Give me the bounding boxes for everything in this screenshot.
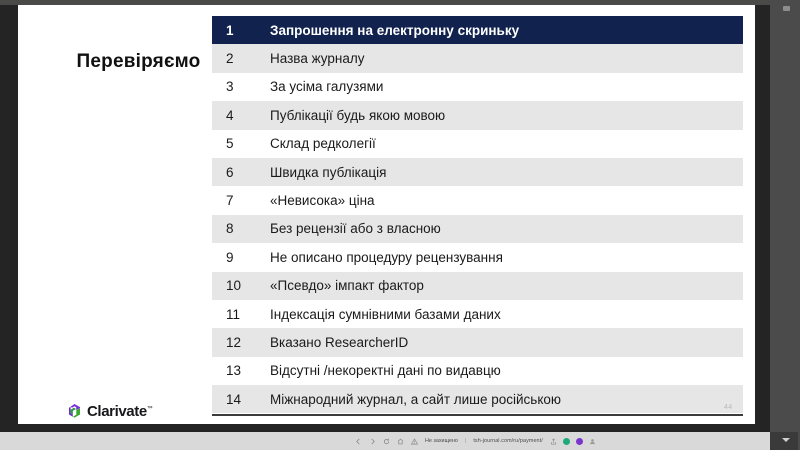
table-row[interactable]: 9Не описано процедуру рецензування xyxy=(212,243,743,271)
not-secure-warning-icon[interactable] xyxy=(411,438,418,445)
screen: Перевіряємо 1Запрошення на електронну ск… xyxy=(0,0,800,450)
checklist-table-body: 1Запрошення на електронну скриньку2Назва… xyxy=(212,16,743,413)
row-label: Міжнародний журнал, а сайт лише російськ… xyxy=(266,385,743,413)
table-row[interactable]: 5Склад редколегії xyxy=(212,130,743,158)
extension-green-icon[interactable] xyxy=(563,438,570,445)
table-row[interactable]: 11Індексація сумнівними базами даних xyxy=(212,300,743,328)
address-bar-url[interactable]: tsh-journal.com/ru/payment/ xyxy=(473,438,543,444)
table-row[interactable]: 4Публікації будь якою мовою xyxy=(212,101,743,129)
row-label: Склад редколегії xyxy=(266,130,743,158)
reload-icon[interactable] xyxy=(383,438,390,445)
row-number: 11 xyxy=(212,300,266,328)
row-number: 1 xyxy=(212,16,266,44)
row-label: «Псевдо» імпакт фактор xyxy=(266,272,743,300)
address-separator: | xyxy=(465,438,466,444)
browser-toolbar-inner: Не захищено | tsh-journal.com/ru/payment… xyxy=(355,438,606,445)
clarivate-wordmark: Clarivate™ xyxy=(87,403,152,420)
table-row[interactable]: 12Вказано ResearcherID xyxy=(212,328,743,356)
page-title: Перевіряємо xyxy=(51,51,226,74)
left-letterbox-band xyxy=(0,5,18,432)
row-label: Індексація сумнівними базами даних xyxy=(266,300,743,328)
profile-icon[interactable] xyxy=(589,438,596,445)
bottom-letterbox-band xyxy=(18,424,755,432)
clarivate-wordmark-text: Clarivate xyxy=(87,403,147,420)
trademark-symbol: ™ xyxy=(147,406,153,412)
row-label: Вказано ResearcherID xyxy=(266,328,743,356)
table-bottom-rule xyxy=(212,414,743,416)
window-control-icon[interactable] xyxy=(783,6,790,11)
row-label: «Невисока» ціна xyxy=(266,186,743,214)
row-number: 3 xyxy=(212,73,266,101)
table-row[interactable]: 2Назва журналу xyxy=(212,44,743,72)
clarivate-logo: Clarivate™ xyxy=(66,403,152,420)
forward-arrow-icon[interactable] xyxy=(369,438,376,445)
table-row[interactable]: 7«Невисока» ціна xyxy=(212,186,743,214)
row-number: 13 xyxy=(212,357,266,385)
back-arrow-icon[interactable] xyxy=(355,438,362,445)
share-icon[interactable] xyxy=(550,438,557,445)
checklist-table: 1Запрошення на електронну скриньку2Назва… xyxy=(212,16,743,413)
security-label: Не захищено xyxy=(425,438,458,444)
row-number: 6 xyxy=(212,158,266,186)
table-row[interactable]: 3За усіма галузями xyxy=(212,73,743,101)
table-row[interactable]: 10«Псевдо» імпакт фактор xyxy=(212,272,743,300)
row-number: 5 xyxy=(212,130,266,158)
slide-number: 44 xyxy=(724,404,732,411)
row-number: 9 xyxy=(212,243,266,271)
browser-toolbar: Не захищено | tsh-journal.com/ru/payment… xyxy=(0,432,770,450)
row-label: Відсутні /некоректні дані по видавцю xyxy=(266,357,743,385)
table-row[interactable]: 8Без рецензії або з власною xyxy=(212,215,743,243)
row-number: 8 xyxy=(212,215,266,243)
row-number: 2 xyxy=(212,44,266,72)
presentation-slide: Перевіряємо 1Запрошення на електронну ск… xyxy=(18,5,755,424)
row-label: Публікації будь якою мовою xyxy=(266,101,743,129)
table-row[interactable]: 13Відсутні /некоректні дані по видавцю xyxy=(212,357,743,385)
row-number: 10 xyxy=(212,272,266,300)
table-row[interactable]: 6Швидка публікація xyxy=(212,158,743,186)
far-right-panel xyxy=(770,0,800,450)
chevron-down-icon[interactable] xyxy=(782,438,790,442)
extension-purple-icon[interactable] xyxy=(576,438,583,445)
row-label: За усіма галузями xyxy=(266,73,743,101)
right-letterbox-band xyxy=(755,5,770,432)
table-row[interactable]: 14Міжнародний журнал, а сайт лише російс… xyxy=(212,385,743,413)
row-number: 14 xyxy=(212,385,266,413)
table-row[interactable]: 1Запрошення на електронну скриньку xyxy=(212,16,743,44)
clarivate-mark-icon xyxy=(66,403,83,420)
row-label: Швидка публікація xyxy=(266,158,743,186)
row-label: Не описано процедуру рецензування xyxy=(266,243,743,271)
row-label: Без рецензії або з власною xyxy=(266,215,743,243)
row-label: Назва журналу xyxy=(266,44,743,72)
row-number: 12 xyxy=(212,328,266,356)
browser-toolbar-actions xyxy=(550,438,596,445)
row-number: 7 xyxy=(212,186,266,214)
row-number: 4 xyxy=(212,101,266,129)
row-label: Запрошення на електронну скриньку xyxy=(266,16,743,44)
home-icon[interactable] xyxy=(397,438,404,445)
